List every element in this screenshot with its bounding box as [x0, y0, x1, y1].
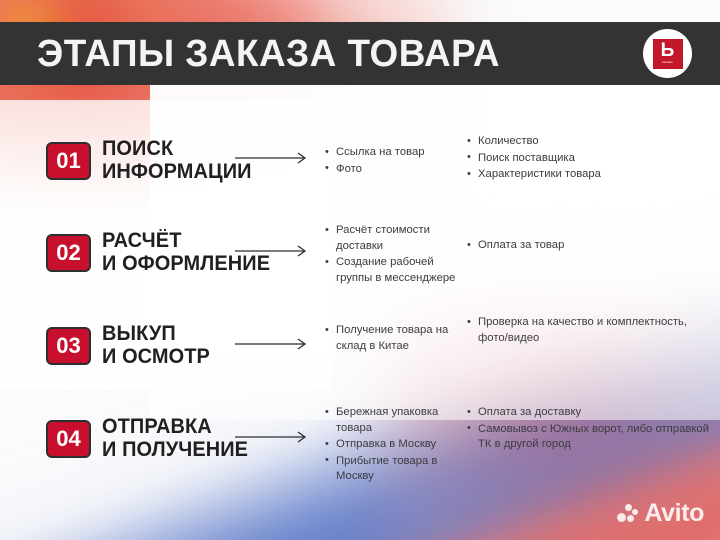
- list-item: Отправка в Москву: [325, 437, 467, 453]
- step-row: 04 ОТПРАВКА И ПОЛУЧЕНИЕ Бережная упаковк…: [0, 392, 720, 485]
- list-item: Расчёт стоимости доставки: [325, 223, 467, 254]
- list-item: Поиск поставщика: [467, 151, 720, 167]
- step-header: 01 ПОИСК ИНФОРМАЦИИ: [0, 113, 232, 206]
- avito-dots-icon: [617, 504, 639, 524]
- step-title-line2: И ОСМОТР: [102, 346, 210, 369]
- logo-glyph: Ь: [661, 41, 675, 60]
- step-title-line1: ОТПРАВКА: [102, 416, 248, 439]
- bullet-list: Ссылка на товар Фото: [325, 145, 467, 177]
- list-item: Бережная упаковка товара: [325, 405, 467, 436]
- list-item: Количество: [467, 134, 720, 150]
- step-number-badge: 02: [46, 234, 91, 272]
- list-item: Получение товара на склад в Китае: [325, 323, 467, 354]
- bullet-list: Получение товара на склад в Китае: [325, 323, 467, 354]
- step-bullets-column-b: Количество Поиск поставщика Характеристи…: [467, 113, 720, 184]
- avito-watermark: Avito: [617, 501, 704, 526]
- step-bullets-column-a: Получение товара на склад в Китае: [325, 299, 467, 355]
- step-title: ОТПРАВКА И ПОЛУЧЕНИЕ: [102, 416, 248, 461]
- arrow-right-icon: [232, 299, 325, 392]
- arrow-right-icon: [232, 206, 325, 299]
- step-number-badge: 04: [46, 420, 91, 458]
- step-title-line1: ВЫКУП: [102, 323, 210, 346]
- list-item: Прибытие товара в Москву: [325, 454, 467, 485]
- step-title-line2: И ПОЛУЧЕНИЕ: [102, 439, 248, 462]
- step-bullets-column-b: Оплата за доставку Самовывоз с Южных вор…: [467, 392, 720, 454]
- step-header: 03 ВЫКУП И ОСМОТР: [0, 299, 232, 392]
- header-banner: ЭТАПЫ ЗАКАЗА ТОВАРА Ь bartado: [0, 22, 720, 85]
- step-header: 02 РАСЧЁТ И ОФОРМЛЕНИЕ: [0, 206, 232, 299]
- step-title-line1: ПОИСК: [102, 138, 252, 161]
- step-title-line2: ИНФОРМАЦИИ: [102, 161, 252, 184]
- step-number-badge: 01: [46, 142, 91, 180]
- page-title: ЭТАПЫ ЗАКАЗА ТОВАРА: [37, 35, 625, 73]
- arrow-right-icon: [232, 113, 325, 206]
- bullet-list: Бережная упаковка товара Отправка в Моск…: [325, 405, 467, 485]
- step-row: 01 ПОИСК ИНФОРМАЦИИ Ссылка на товар Фото: [0, 113, 720, 206]
- bullet-list: Проверка на качество и комплектность, фо…: [467, 315, 720, 346]
- bullet-list: Расчёт стоимости доставки Создание рабоч…: [325, 223, 467, 286]
- step-bullets-column-a: Бережная упаковка товара Отправка в Моск…: [325, 392, 467, 486]
- company-logo: Ь bartado: [643, 29, 692, 78]
- step-row: 02 РАСЧЁТ И ОФОРМЛЕНИЕ Расчёт стоимости …: [0, 206, 720, 299]
- step-bullets-column-a: Расчёт стоимости доставки Создание рабоч…: [325, 206, 467, 287]
- poster: ЭТАПЫ ЗАКАЗА ТОВАРА Ь bartado 01 ПОИСК И…: [0, 0, 720, 540]
- steps-list: 01 ПОИСК ИНФОРМАЦИИ Ссылка на товар Фото: [0, 113, 720, 485]
- list-item: Фото: [325, 162, 467, 178]
- list-item: Проверка на качество и комплектность, фо…: [467, 315, 720, 346]
- list-item: Создание рабочей группы в мессенджере: [325, 255, 467, 286]
- list-item: Оплата за доставку: [467, 405, 720, 421]
- list-item: Ссылка на товар: [325, 145, 467, 161]
- bullet-list: Оплата за товар: [467, 238, 720, 254]
- step-title: ВЫКУП И ОСМОТР: [102, 323, 210, 368]
- bullet-list: Количество Поиск поставщика Характеристи…: [467, 134, 720, 183]
- logo-subtext: bartado: [662, 61, 673, 64]
- arrow-right-icon: [232, 392, 325, 485]
- list-item: Самовывоз с Южных ворот, либо отправкой …: [467, 422, 720, 453]
- step-row: 03 ВЫКУП И ОСМОТР Получение товара на ск…: [0, 299, 720, 392]
- logo-mark: Ь bartado: [653, 39, 683, 69]
- step-title: ПОИСК ИНФОРМАЦИИ: [102, 138, 252, 183]
- step-number-badge: 03: [46, 327, 91, 365]
- list-item: Оплата за товар: [467, 238, 720, 254]
- bullet-list: Оплата за доставку Самовывоз с Южных вор…: [467, 405, 720, 453]
- step-bullets-column-b: Проверка на качество и комплектность, фо…: [467, 299, 720, 347]
- step-bullets-column-b: Оплата за товар: [467, 206, 720, 255]
- list-item: Характеристики товара: [467, 167, 720, 183]
- step-header: 04 ОТПРАВКА И ПОЛУЧЕНИЕ: [0, 392, 232, 485]
- step-bullets-column-a: Ссылка на товар Фото: [325, 113, 467, 178]
- avito-wordmark: Avito: [644, 501, 704, 526]
